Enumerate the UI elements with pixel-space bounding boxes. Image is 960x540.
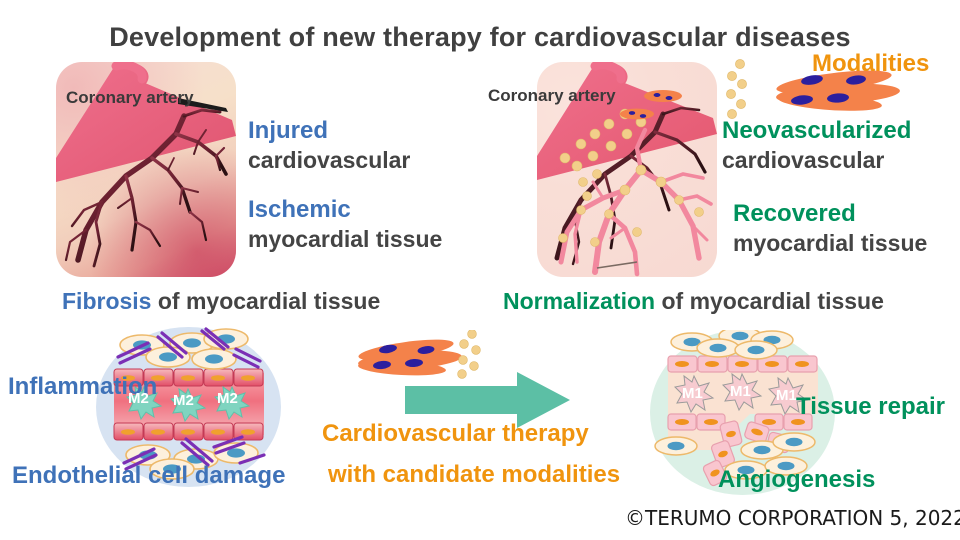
- coronary-artery-label-right: Coronary artery: [488, 86, 616, 106]
- page-title: Development of new therapy for cardiovas…: [0, 22, 960, 53]
- recovered-status-highlight: Recovered: [733, 200, 856, 228]
- diagram-canvas: Development of new therapy for cardiovas…: [0, 0, 960, 540]
- fibrosis-caption-rest: of myocardial tissue: [158, 288, 380, 314]
- m2-label-1: M2: [128, 390, 149, 407]
- damaged-cell-group-top: [118, 329, 260, 369]
- modalities-label: Modalities: [812, 50, 929, 78]
- coronary-artery-label-left: Coronary artery: [66, 88, 194, 108]
- therapy-label-line-2: with candidate modalities: [328, 461, 620, 489]
- neovascularized-status-rest: cardiovascular: [722, 147, 884, 174]
- fibrosis-caption-highlight: Fibrosis: [62, 288, 151, 314]
- fibrosis-caption: Fibrosis of myocardial tissue: [62, 288, 380, 315]
- tissue-repair-label: Tissue repair: [796, 393, 945, 421]
- m1-label-2: M1: [730, 383, 751, 400]
- ischemic-status-rest: myocardial tissue: [248, 226, 442, 253]
- m2-label-2: M2: [173, 392, 194, 409]
- m1-label-1: M1: [682, 385, 703, 402]
- normalization-caption-highlight: Normalization: [503, 288, 655, 314]
- neovascularized-status-highlight: Neovascularized: [722, 117, 911, 145]
- recovered-status-rest: myocardial tissue: [733, 230, 927, 257]
- m1-label-3: M1: [776, 387, 797, 404]
- normalization-caption-rest: of myocardial tissue: [661, 288, 883, 314]
- modality-particle-group: [726, 59, 746, 118]
- m2-label-3: M2: [217, 390, 238, 407]
- normalization-caption: Normalization of myocardial tissue: [503, 288, 884, 315]
- modality-cell-group-center: [357, 335, 462, 377]
- injured-status-highlight: Injured: [248, 117, 328, 145]
- angiogenesis-label: Angiogenesis: [718, 466, 875, 494]
- therapy-label-line-1: Cardiovascular therapy: [322, 420, 589, 448]
- copyright-notice: ©TERUMO CORPORATION 5, 2022: [625, 506, 960, 530]
- healthy-endothelial-row-top: [668, 356, 817, 372]
- injured-status-rest: cardiovascular: [248, 147, 410, 174]
- ischemic-status-highlight: Ischemic: [248, 196, 351, 224]
- endothelial-damage-label: Endothelial cell damage: [12, 462, 285, 490]
